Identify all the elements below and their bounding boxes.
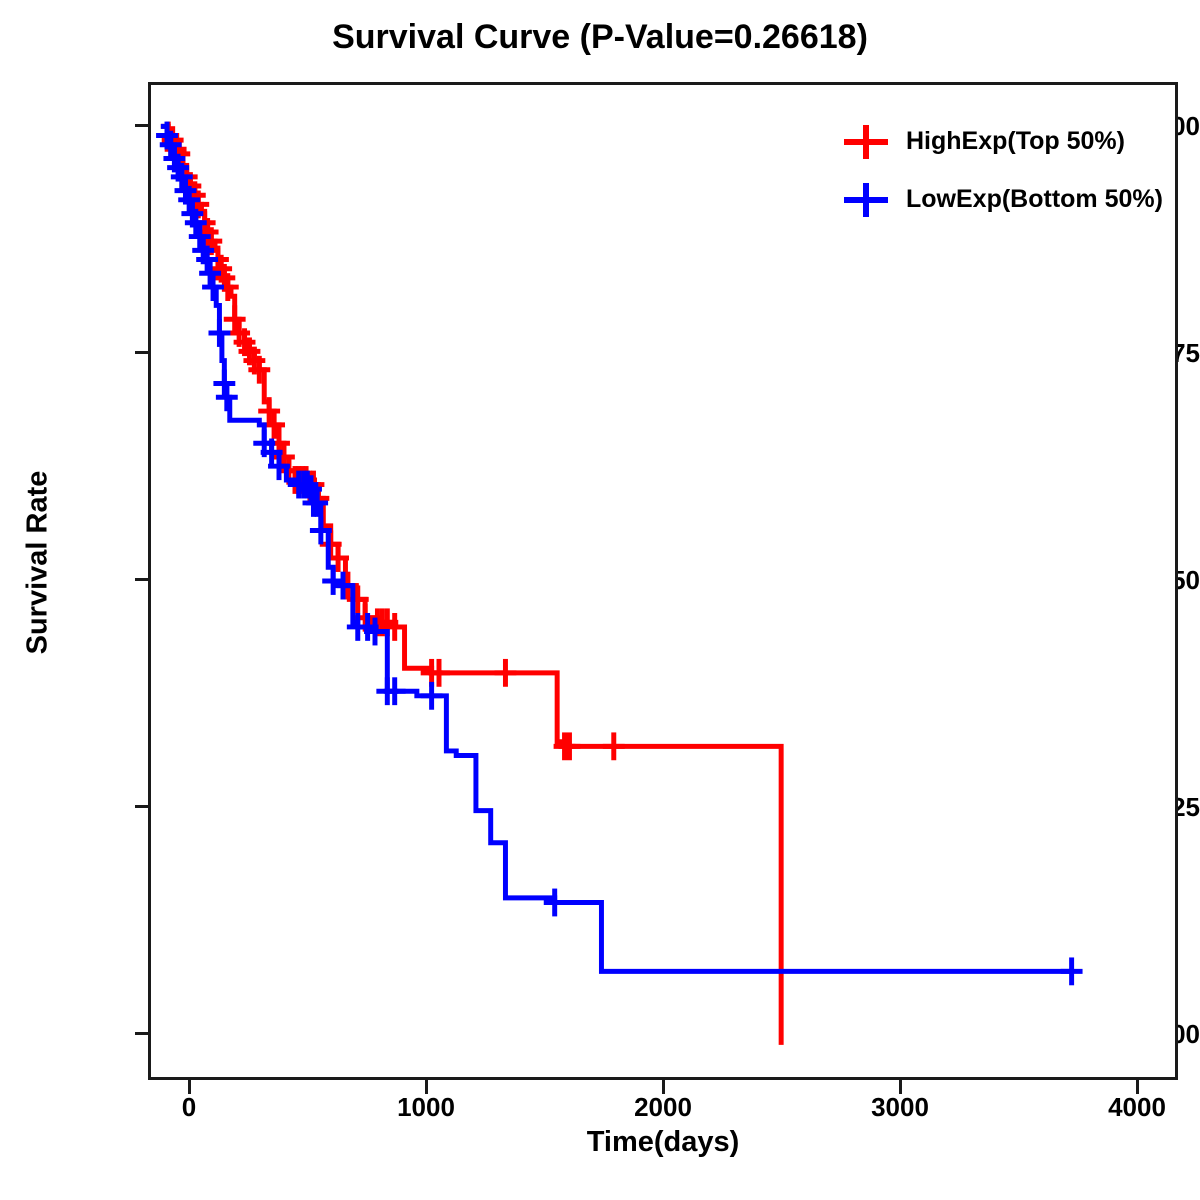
legend: HighExp(Top 50%) LowExp(Bottom 50%) bbox=[838, 112, 1178, 228]
series-layer bbox=[156, 122, 1082, 1045]
x-tick-label-4: 3000 bbox=[840, 1092, 960, 1123]
series-highexp bbox=[157, 122, 781, 1045]
legend-item-lowexp[interactable]: LowExp(Bottom 50%) bbox=[838, 170, 1178, 228]
survival-step-line bbox=[161, 126, 781, 1045]
y-tick-mark-2 bbox=[135, 351, 148, 354]
y-tick-mark-1 bbox=[135, 124, 148, 127]
survival-chart-figure: Survival Curve (P-Value=0.26618) Surviva… bbox=[0, 0, 1200, 1200]
series-lowexp bbox=[156, 122, 1082, 986]
page-title: Survival Curve (P-Value=0.26618) bbox=[0, 18, 1200, 57]
survival-plot-svg bbox=[151, 85, 1175, 1077]
y-axis-title: Survival Rate bbox=[22, 433, 55, 693]
x-axis-title: Time(days) bbox=[148, 1126, 1178, 1159]
y-tick-mark-4 bbox=[135, 805, 148, 808]
legend-label-lowexp: LowExp(Bottom 50%) bbox=[894, 185, 1163, 214]
plus-marker-icon-red bbox=[838, 121, 894, 161]
plus-marker-icon-blue bbox=[838, 179, 894, 219]
legend-label-highexp: HighExp(Top 50%) bbox=[894, 127, 1125, 156]
x-tick-label-1: 0 bbox=[129, 1092, 249, 1123]
survival-step-line bbox=[161, 126, 1072, 971]
x-tick-label-2: 1000 bbox=[366, 1092, 486, 1123]
x-tick-label-5: 4000 bbox=[1077, 1092, 1197, 1123]
y-tick-mark-5 bbox=[135, 1032, 148, 1035]
x-tick-label-3: 2000 bbox=[603, 1092, 723, 1123]
legend-item-highexp[interactable]: HighExp(Top 50%) bbox=[838, 112, 1178, 170]
plot-panel bbox=[148, 82, 1178, 1080]
y-tick-mark-3 bbox=[135, 578, 148, 581]
